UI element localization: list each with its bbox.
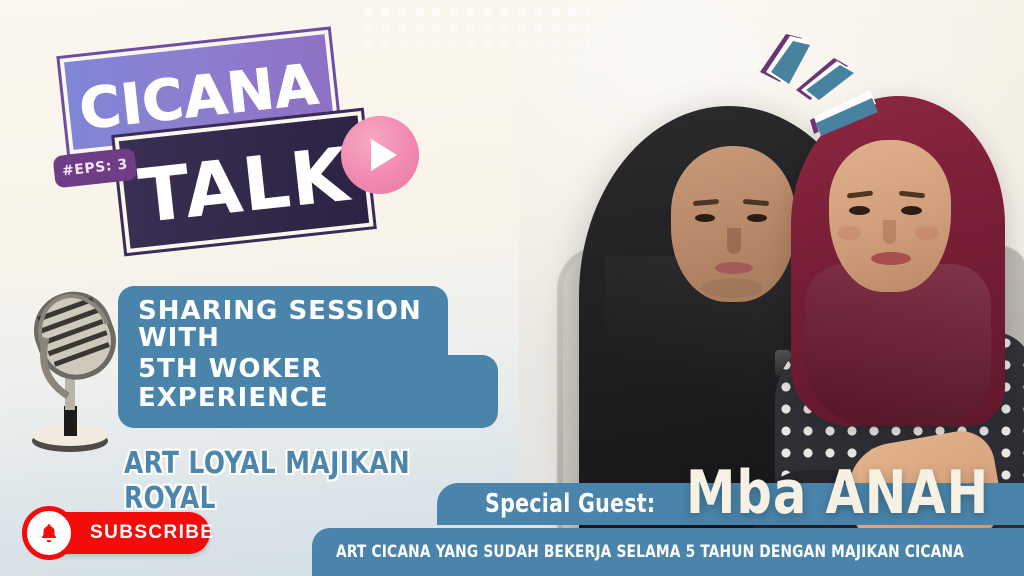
bell-icon	[37, 521, 61, 545]
halftone-dots	[360, 0, 590, 78]
eye-right	[747, 214, 767, 222]
show-logo: CICANA TALK #EPS: 3	[46, 34, 376, 264]
microphone-icon	[16, 278, 124, 454]
eyebrow-right	[743, 199, 769, 206]
description-text: ART CICANA YANG SUDAH BEKERJA SELAMA 5 T…	[336, 542, 964, 562]
guest-name: Mba ANAH	[686, 458, 989, 528]
bell-badge	[22, 506, 76, 560]
nose	[727, 228, 741, 254]
mouth	[871, 252, 911, 265]
subscribe-button[interactable]: SUBSCRIBE	[28, 512, 210, 554]
info-subtitle: ART LOYAL MAJIKAN ROYAL	[124, 446, 486, 516]
info-line-2: 5TH WOKER EXPERIENCE	[118, 355, 498, 429]
eyebrow-left	[847, 190, 873, 198]
eyebrow-left	[693, 199, 719, 206]
guest-label: Special Guest:	[485, 489, 655, 519]
cheek-right	[915, 226, 939, 240]
face-right	[829, 140, 951, 292]
face-left	[671, 146, 795, 302]
description-banner: ART CICANA YANG SUDAH BEKERJA SELAMA 5 T…	[312, 528, 1024, 576]
eyebrow-right	[899, 191, 925, 199]
eye-right	[901, 206, 922, 215]
eye-left	[695, 214, 715, 222]
thumbnail-canvas: CICANA TALK #EPS: 3 SHARING SES	[0, 0, 1024, 576]
cheek-left	[837, 226, 861, 240]
subscribe-label: SUBSCRIBE	[90, 522, 215, 544]
chin-shadow	[701, 278, 763, 298]
info-line-1: SHARING SESSION WITH	[118, 286, 448, 355]
eye-left	[849, 206, 870, 215]
nose	[883, 220, 896, 244]
mouth	[715, 262, 753, 274]
play-button[interactable]	[341, 116, 419, 194]
play-triangle-icon	[371, 139, 397, 171]
session-info: SHARING SESSION WITH 5TH WOKER EXPERIENC…	[118, 286, 518, 516]
ribbon-burst-icon	[752, 28, 892, 148]
